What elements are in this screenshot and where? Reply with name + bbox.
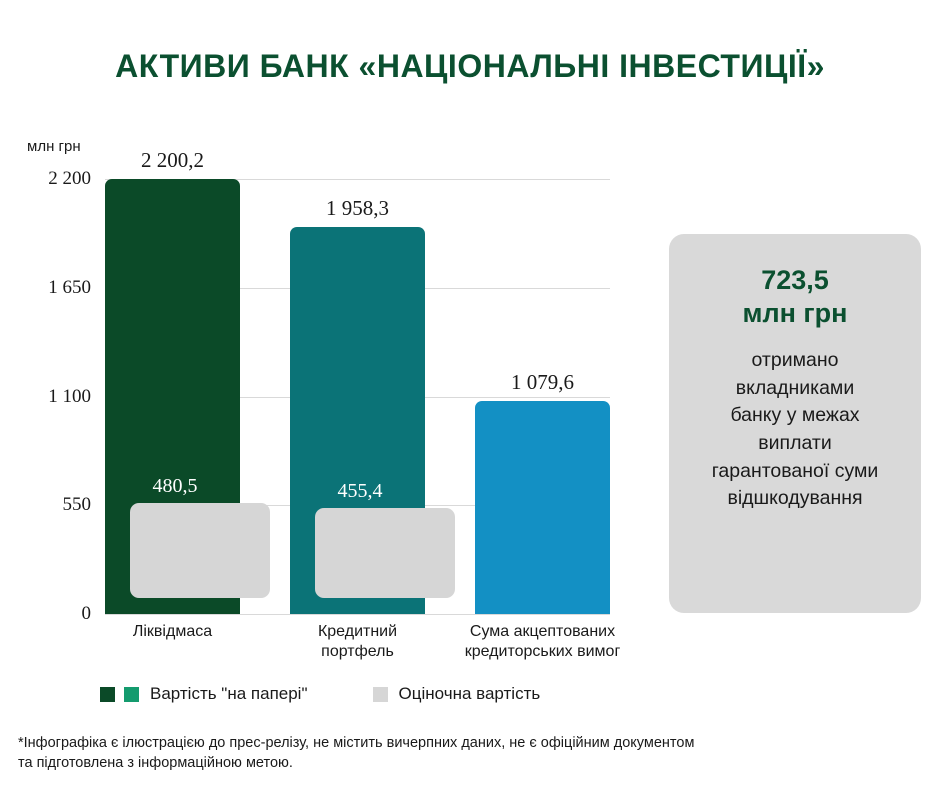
x-axis-category-label: Сума акцептованих кредиторських вимог: [465, 622, 621, 662]
legend-label: Вартість "на папері": [150, 684, 308, 704]
y-axis-tick-label: 550: [16, 494, 91, 516]
bar-value-label: 1 079,6: [511, 370, 574, 395]
legend-entry: Вартість "на папері": [100, 684, 308, 704]
bar-overlay-value-label: 455,4: [338, 480, 383, 503]
y-axis-tick-label: 0: [16, 603, 91, 625]
legend-swatch: [373, 687, 388, 702]
y-axis-tick-label: 2 200: [16, 168, 91, 190]
highlight-panel-headline: 723,5 млн грн: [683, 264, 907, 330]
page-title: АКТИВИ БАНК «НАЦІОНАЛЬНІ ІНВЕСТИЦІЇ»: [0, 48, 940, 85]
y-axis-tick-label: 1 650: [16, 277, 91, 299]
bar-value-label: 2 200,2: [141, 148, 204, 173]
legend-swatch: [100, 687, 115, 702]
legend-entry: Оціночна вартість: [373, 684, 541, 704]
bar-overlay-value-label: 480,5: [153, 475, 198, 498]
y-axis-tick-labels: 05501 1001 6502 200: [16, 179, 91, 614]
legend-label: Оціночна вартість: [399, 684, 541, 704]
bar-overlay: [315, 508, 455, 598]
y-axis-tick-label: 1 100: [16, 386, 91, 408]
legend-swatch-group: [373, 687, 388, 702]
bar-value-label: 1 958,3: [326, 196, 389, 221]
bar-main: [475, 401, 610, 614]
x-axis-category-label: Кредитний портфель: [318, 622, 397, 662]
highlight-panel-body: отримано вкладниками банку у межах випла…: [683, 347, 907, 513]
chart-legend: Вартість "на папері"Оціночна вартість: [100, 684, 540, 704]
legend-swatch-group: [100, 687, 139, 702]
legend-swatch: [124, 687, 139, 702]
bar-overlay: [130, 503, 270, 598]
gridline: [105, 614, 610, 615]
chart-plot-area: 2 200,2480,51 958,3455,41 079,6: [105, 179, 610, 614]
x-axis-category-label: Ліквідмаса: [133, 622, 212, 642]
footnote: *Інфографіка є ілюстрацією до прес-реліз…: [18, 733, 928, 773]
highlight-panel: 723,5 млн грн отримано вкладниками банку…: [669, 234, 921, 613]
y-axis-unit-label: млн грн: [27, 138, 81, 155]
